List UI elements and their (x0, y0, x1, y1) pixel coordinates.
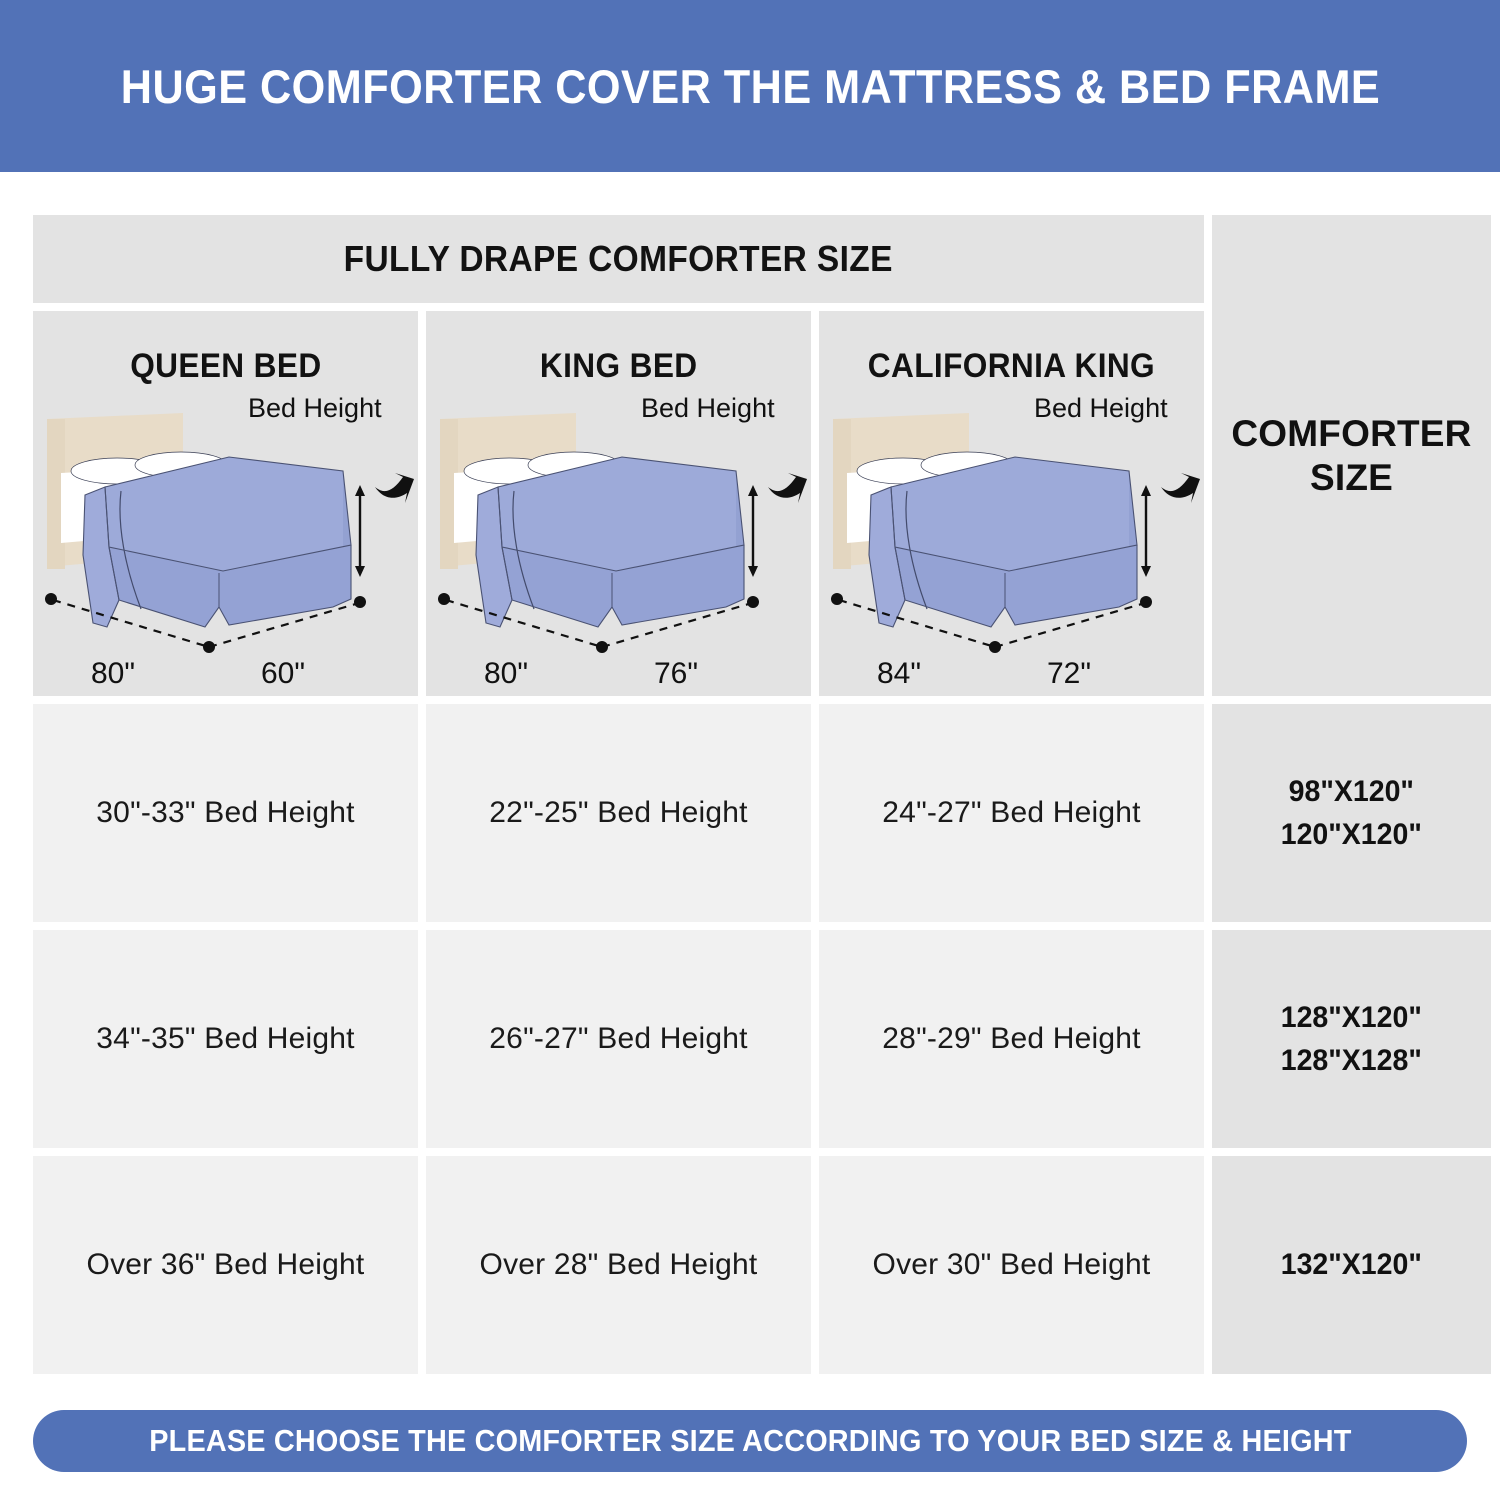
dimension-dot-right (1140, 596, 1152, 608)
length-label-queen: 80" (91, 657, 135, 690)
table-cell-queen-row2: 34"-35" Bed Height (33, 930, 418, 1148)
size-value-group: 132"X120" (1281, 1243, 1422, 1287)
curved-arrow-icon (375, 473, 414, 503)
comforter-size-header: COMFORTER SIZE (1231, 412, 1471, 499)
cell-text: Over 36" Bed Height (87, 1248, 365, 1282)
cell-text: Over 30" Bed Height (873, 1248, 1151, 1282)
table-cell-calking-row2: 28"-29" Bed Height (819, 930, 1204, 1148)
table-cell-queen-row1: 30"-33" Bed Height (33, 704, 418, 922)
width-label-california-king: 72" (1047, 657, 1091, 690)
dimension-dot-center (596, 641, 608, 653)
table-title-cell: FULLY DRAPE COMFORTER SIZE (33, 215, 1204, 303)
size-value-group: 128"X120" 128"X128" (1281, 996, 1422, 1083)
table-cell-size-row3: 132"X120" (1212, 1156, 1491, 1374)
cell-text: 22"-25" Bed Height (489, 796, 747, 830)
curved-arrow-icon (1161, 473, 1200, 503)
cell-text: 24"-27" Bed Height (882, 796, 1140, 830)
length-label-king: 80" (484, 657, 528, 690)
bed-height-arrow-up (748, 485, 758, 496)
table-cell-calking-row1: 24"-27" Bed Height (819, 704, 1204, 922)
size-chart-table: FULLY DRAPE COMFORTER SIZE COMFORTER SIZ… (33, 215, 1467, 1365)
illustration-cell-california-king: CALIFORNIA KING (819, 311, 1204, 696)
comforter-size-header-line2: SIZE (1231, 456, 1471, 500)
width-label-king: 76" (654, 657, 698, 690)
length-label-california-king: 84" (877, 657, 921, 690)
size-value-line2: 120"X120" (1281, 813, 1422, 857)
dimension-dot-left (438, 593, 450, 605)
width-label-queen: 60" (261, 657, 305, 690)
bed-height-arrow-down (355, 566, 365, 577)
column-header-king: KING BED (540, 347, 698, 386)
column-header-california-king: CALIFORNIA KING (868, 347, 1155, 386)
table-title: FULLY DRAPE COMFORTER SIZE (344, 238, 893, 280)
table-cell-king-row1: 22"-25" Bed Height (426, 704, 811, 922)
illustration-cell-queen: QUEEN BED (33, 311, 418, 696)
dimension-dot-center (989, 641, 1001, 653)
table-cell-size-row1: 98"X120" 120"X120" (1212, 704, 1491, 922)
table-cell-calking-row3: Over 30" Bed Height (819, 1156, 1204, 1374)
bed-height-arrow-down (748, 566, 758, 577)
table-cell-size-row2: 128"X120" 128"X128" (1212, 930, 1491, 1148)
bed-height-arrow-up (355, 485, 365, 496)
size-value-line1: 128"X120" (1281, 996, 1422, 1040)
cell-text: 30"-33" Bed Height (96, 796, 354, 830)
bed-height-label-queen: Bed Height (248, 395, 382, 423)
bed-illustration-queen: Bed Height 80" 60" (33, 395, 418, 695)
dimension-dot-center (203, 641, 215, 653)
bed-illustration-california-king: Bed Height 84" 72" (819, 395, 1204, 695)
bed-height-label-king: Bed Height (641, 395, 775, 423)
bed-height-arrow-down (1141, 566, 1151, 577)
bed-height-label-california-king: Bed Height (1034, 395, 1168, 423)
cell-text: 28"-29" Bed Height (882, 1022, 1140, 1056)
dimension-dot-right (354, 596, 366, 608)
size-value-group: 98"X120" 120"X120" (1281, 770, 1422, 857)
cell-text: 26"-27" Bed Height (489, 1022, 747, 1056)
bed-height-arrow-up (1141, 485, 1151, 496)
size-value-line1: 132"X120" (1281, 1243, 1422, 1287)
dimension-dot-right (747, 596, 759, 608)
dimension-dot-left (45, 593, 57, 605)
footer-text: PLEASE CHOOSE THE COMFORTER SIZE ACCORDI… (149, 1423, 1351, 1459)
bottom-banner: PLEASE CHOOSE THE COMFORTER SIZE ACCORDI… (33, 1410, 1467, 1472)
infographic-page: HUGE COMFORTER COVER THE MATTRESS & BED … (0, 0, 1500, 1500)
cell-text: Over 28" Bed Height (480, 1248, 758, 1282)
curved-arrow-icon (768, 473, 807, 503)
top-banner: HUGE COMFORTER COVER THE MATTRESS & BED … (0, 0, 1500, 172)
table-cell-king-row2: 26"-27" Bed Height (426, 930, 811, 1148)
page-title: HUGE COMFORTER COVER THE MATTRESS & BED … (120, 59, 1379, 114)
column-header-queen: QUEEN BED (130, 347, 321, 386)
size-value-line2: 128"X128" (1281, 1039, 1422, 1083)
dimension-dot-left (831, 593, 843, 605)
size-value-line1: 98"X120" (1281, 770, 1422, 814)
bed-illustration-king: Bed Height 80" 76" (426, 395, 811, 695)
cell-text: 34"-35" Bed Height (96, 1022, 354, 1056)
table-cell-king-row3: Over 28" Bed Height (426, 1156, 811, 1374)
comforter-size-header-line1: COMFORTER (1231, 412, 1471, 456)
illustration-cell-king: KING BED (426, 311, 811, 696)
comforter-size-header-cell: COMFORTER SIZE (1212, 215, 1491, 696)
table-cell-queen-row3: Over 36" Bed Height (33, 1156, 418, 1374)
